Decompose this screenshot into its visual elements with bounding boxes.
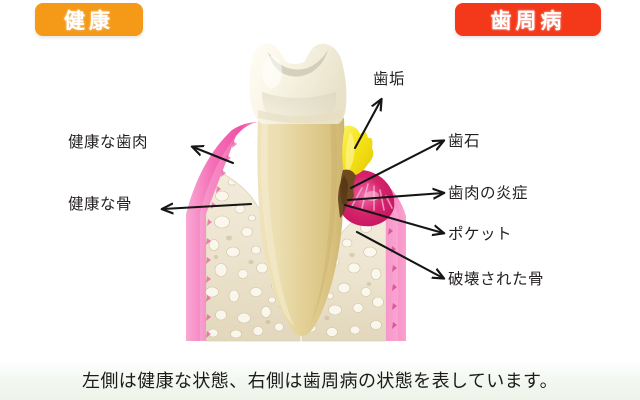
- label-tartar: 歯石: [448, 134, 480, 150]
- diagram-canvas: 健康 歯周病: [0, 0, 640, 400]
- label-destroyed-bone: 破壊された骨: [448, 272, 544, 288]
- caption-bar: 左側は健康な状態、右側は歯周病の状態を表しています。: [0, 360, 640, 400]
- plaque-deposit: [342, 126, 373, 176]
- label-healthy-bone: 健康な骨: [68, 197, 132, 213]
- label-plaque: 歯垢: [373, 72, 405, 88]
- label-pocket: ポケット: [448, 227, 512, 243]
- label-gum-inflammation: 歯肉の炎症: [448, 186, 528, 202]
- label-healthy-gum: 健康な歯肉: [68, 135, 148, 151]
- caption-text: 左側は健康な状態、右側は歯周病の状態を表しています。: [82, 367, 558, 393]
- tooth-crown: [249, 43, 346, 124]
